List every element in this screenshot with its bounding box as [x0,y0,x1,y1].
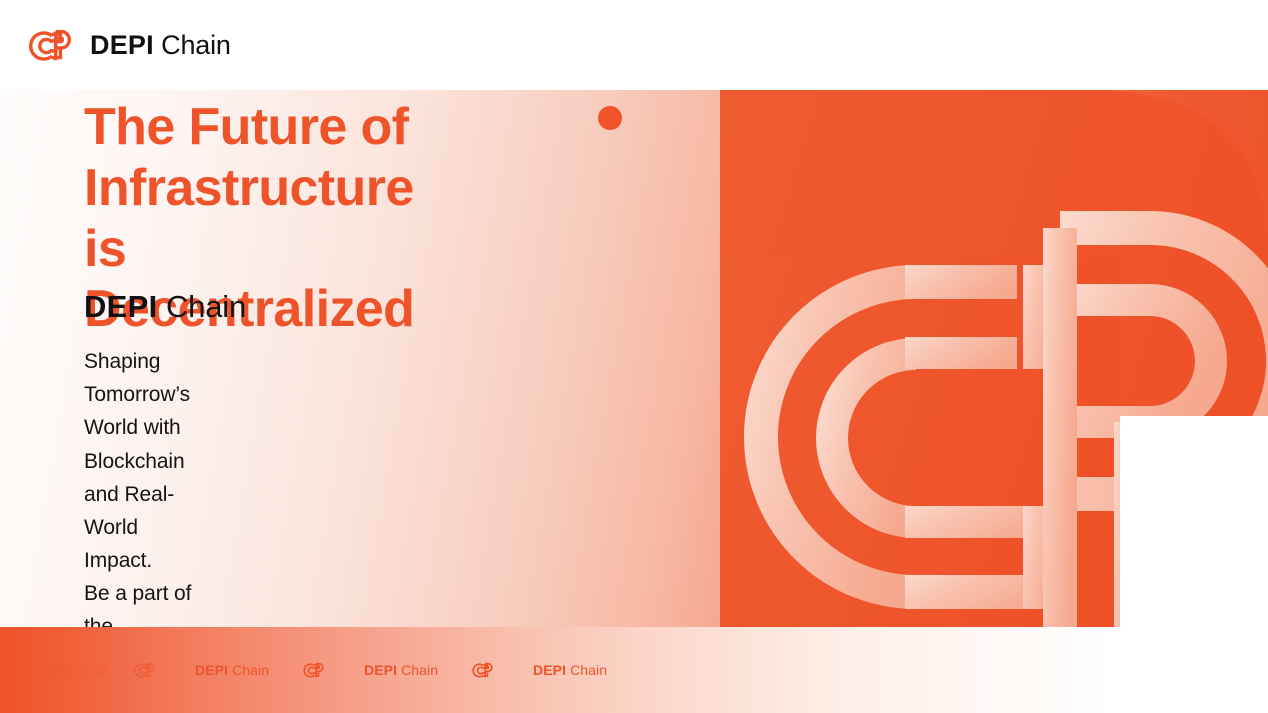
right-white-cutout [1120,416,1268,627]
slide-canvas: The Future of Infrastructure is Decentra… [0,0,1268,713]
accent-dot [598,106,622,130]
brand-lockup[interactable]: DEPI Chain [22,22,231,68]
marquee-wordmark: DEPI Chain [364,663,438,677]
marquee-mark [131,659,156,682]
depi-chain-monogram-icon [131,659,156,682]
depi-chain-monogram-icon [300,659,325,682]
marquee-wordmark: DEPI Chain [195,663,269,677]
sub-brand-lockup: DEPI Chain [84,291,246,322]
marquee-mark [469,659,494,682]
sub-brand-regular: Chain [166,289,246,324]
marquee-row: DEPI Chain DEPI Chain DEPI Chain DEPI Ch… [0,627,1268,713]
depi-chain-monogram-icon [22,22,74,68]
sub-brand-bold: DEPI [84,289,158,324]
header-bar: DEPI Chain [0,0,1268,90]
marquee-wordmark: DEPI Chain [533,663,607,677]
brand-name-regular: Chain [161,30,231,60]
brand-name-bold: DEPI [90,30,154,60]
marquee-wordmark: DEPI Chain [36,663,110,677]
brand-marquee-strip: DEPI Chain DEPI Chain DEPI Chain DEPI Ch… [0,627,1268,713]
brand-wordmark: DEPI Chain [90,32,231,59]
marquee-mark [300,659,325,682]
depi-chain-monogram-icon [469,659,494,682]
